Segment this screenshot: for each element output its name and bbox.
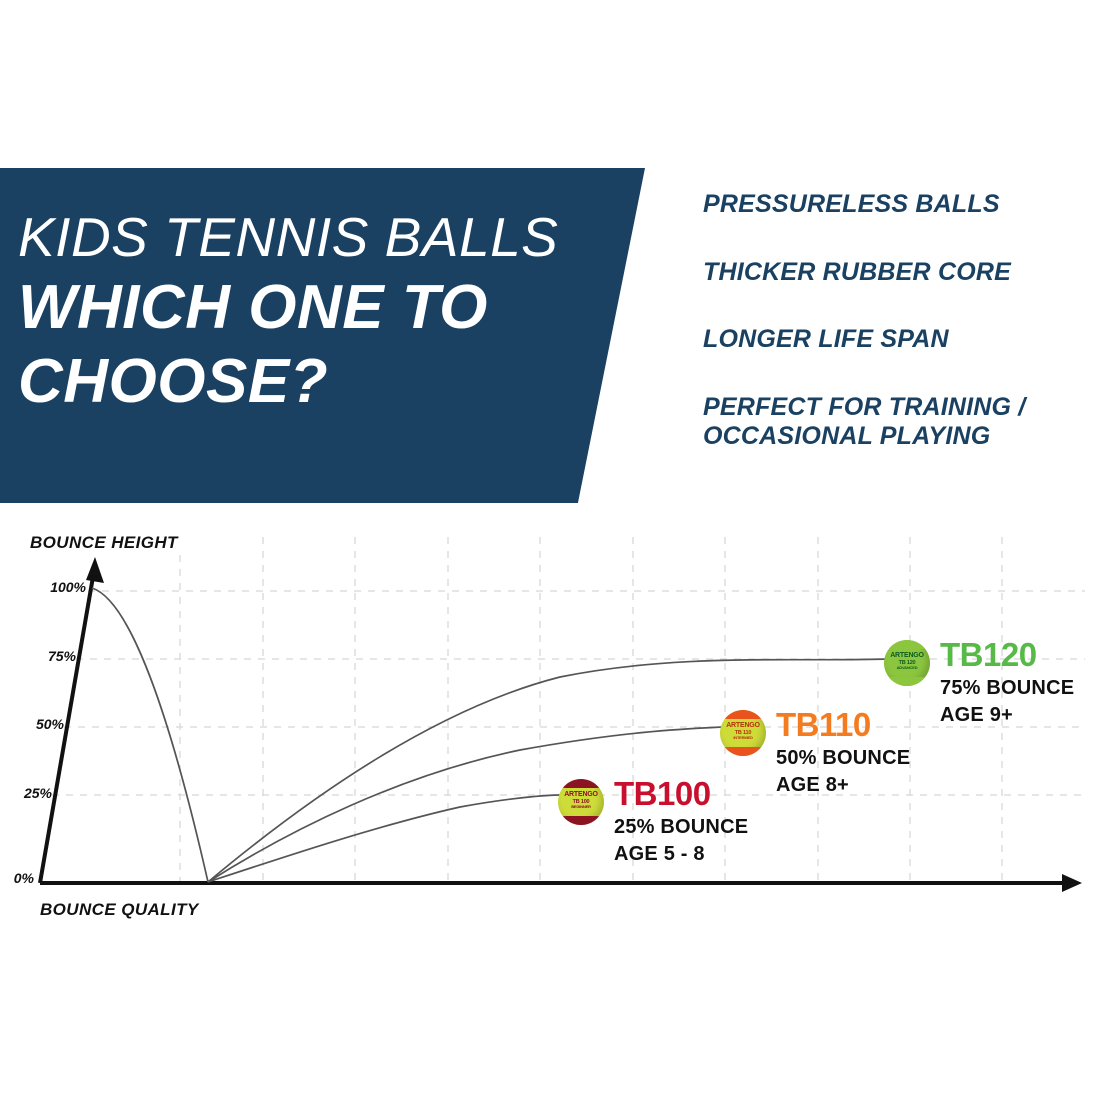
title-line-choose: CHOOSE? <box>18 351 558 413</box>
callout-bounce-tb120: 75% BOUNCE <box>940 678 1074 698</box>
y-tick-label-100: 100% <box>34 579 86 595</box>
y-tick-label-0: 0% <box>0 870 34 886</box>
chart-svg <box>0 505 1100 945</box>
feature-list: PRESSURELESS BALLS THICKER RUBBER CORE L… <box>703 190 1063 452</box>
callout-age-tb100: AGE 5 - 8 <box>614 844 748 864</box>
ball-sub-tb100: BEGINNER <box>558 805 604 810</box>
ball-brand-tb110: ARTENGO <box>720 722 766 730</box>
ball-sub-tb120: ADVANCED <box>884 666 930 671</box>
y-axis-title: BOUNCE HEIGHT <box>30 533 178 553</box>
feature-item-pressureless-balls: PRESSURELESS BALLS <box>703 190 1063 220</box>
curve-reference-drop <box>92 588 208 882</box>
ball-brand-tb120: ARTENGO <box>884 652 930 660</box>
callout-tb110: ARTENGO TB 110 INTERMED TB110 50% BOUNCE… <box>720 708 910 795</box>
ball-brand-tb100: ARTENGO <box>558 791 604 799</box>
x-axis-title: BOUNCE QUALITY <box>40 900 199 920</box>
callout-age-tb110: AGE 8+ <box>776 775 910 795</box>
callout-tb120: ARTENGO TB 120 ADVANCED TB120 75% BOUNCE… <box>884 638 1074 725</box>
y-axis-arrowhead <box>86 557 104 583</box>
feature-item-thicker-rubber-core: THICKER RUBBER CORE <box>703 258 1063 288</box>
x-axis-arrowhead <box>1062 874 1082 892</box>
callout-age-tb120: AGE 9+ <box>940 705 1074 725</box>
tennis-ball-icon-tb110: ARTENGO TB 110 INTERMED <box>720 710 766 756</box>
bounce-chart: BOUNCE HEIGHT BOUNCE QUALITY 100% 75% 50… <box>0 505 1100 945</box>
ball-sub-tb110: INTERMED <box>720 736 766 741</box>
callout-bounce-tb110: 50% BOUNCE <box>776 748 910 768</box>
feature-item-perfect-for-training: PERFECT FOR TRAINING / OCCASIONAL PLAYIN… <box>703 393 1063 452</box>
title-line-kids-tennis-balls: KIDS TENNIS BALLS <box>18 210 558 265</box>
y-tick-label-75: 75% <box>24 648 76 664</box>
tennis-ball-icon-tb120: ARTENGO TB 120 ADVANCED <box>884 640 930 686</box>
page-title: KIDS TENNIS BALLS WHICH ONE TO CHOOSE? <box>18 210 558 413</box>
feature-item-longer-life-span: LONGER LIFE SPAN <box>703 325 1063 355</box>
callout-bounce-tb100: 25% BOUNCE <box>614 817 748 837</box>
tennis-ball-icon-tb100: ARTENGO TB 100 BEGINNER <box>558 779 604 825</box>
title-line-which-one-to: WHICH ONE TO <box>18 277 558 339</box>
y-tick-label-25: 25% <box>0 785 52 801</box>
callout-model-tb120: TB120 <box>940 638 1074 671</box>
y-tick-label-50: 50% <box>12 716 64 732</box>
